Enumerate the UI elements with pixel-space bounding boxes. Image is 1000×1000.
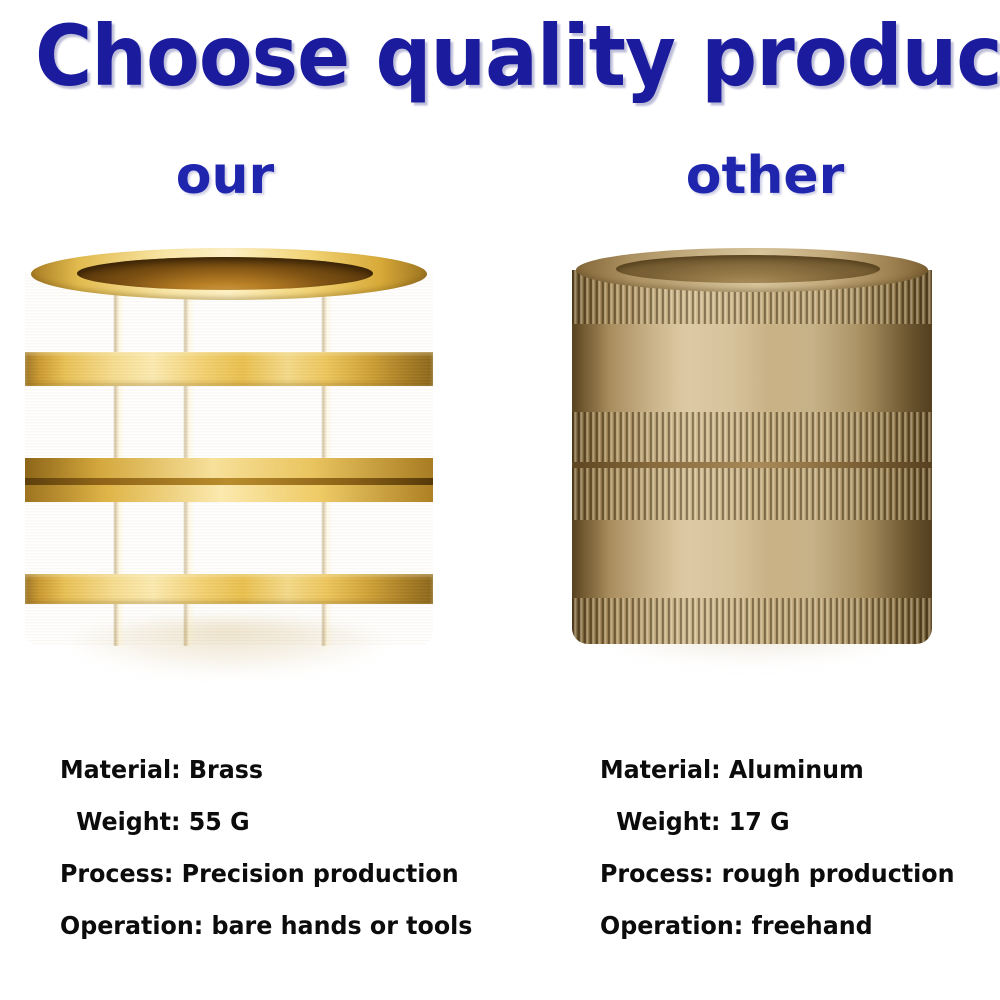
spec-list-our: Material: Brass Weight: 55 G Process: Pr… bbox=[60, 757, 472, 965]
knurl-band-bottom bbox=[572, 598, 932, 644]
inner-bore-other bbox=[616, 255, 880, 283]
spec-process-our: Process: Precision production bbox=[60, 861, 472, 886]
collar-ring-lower bbox=[25, 574, 433, 604]
spec-operation-our: Operation: bare hands or tools bbox=[60, 913, 472, 938]
inner-bore-our bbox=[77, 257, 373, 290]
hex-flat-lower-2 bbox=[25, 604, 433, 646]
column-label-our: our bbox=[0, 146, 450, 206]
knurl-band-middle-upper bbox=[572, 412, 932, 462]
spec-process-other: Process: rough production bbox=[600, 861, 955, 886]
spec-list-other: Material: Aluminum Weight: 17 G Process:… bbox=[600, 757, 955, 965]
hex-flat-upper-2 bbox=[25, 386, 433, 458]
bevel-upper bbox=[25, 458, 433, 478]
hex-flat-lower-1 bbox=[25, 502, 433, 574]
smooth-barrel-lower bbox=[572, 520, 932, 598]
smooth-barrel-upper bbox=[572, 324, 932, 412]
product-image-our bbox=[25, 248, 433, 648]
spec-operation-other: Operation: freehand bbox=[600, 913, 955, 938]
spec-weight-our: Weight: 55 G bbox=[60, 809, 472, 834]
aluminum-knurled-fitting-icon bbox=[572, 248, 932, 644]
product-image-other bbox=[572, 248, 932, 644]
spec-material-our: Material: Brass bbox=[60, 757, 472, 782]
collar-ring-upper bbox=[25, 352, 433, 386]
bevel-lower bbox=[25, 485, 433, 502]
page-title: Choose quality products bbox=[35, 8, 965, 104]
column-label-other: other bbox=[540, 146, 990, 206]
center-seam-groove bbox=[25, 478, 433, 485]
knurl-band-middle-lower bbox=[572, 468, 932, 520]
spec-weight-other: Weight: 17 G bbox=[600, 809, 955, 834]
spec-material-other: Material: Aluminum bbox=[600, 757, 955, 782]
brass-hex-fitting-icon bbox=[25, 248, 433, 646]
